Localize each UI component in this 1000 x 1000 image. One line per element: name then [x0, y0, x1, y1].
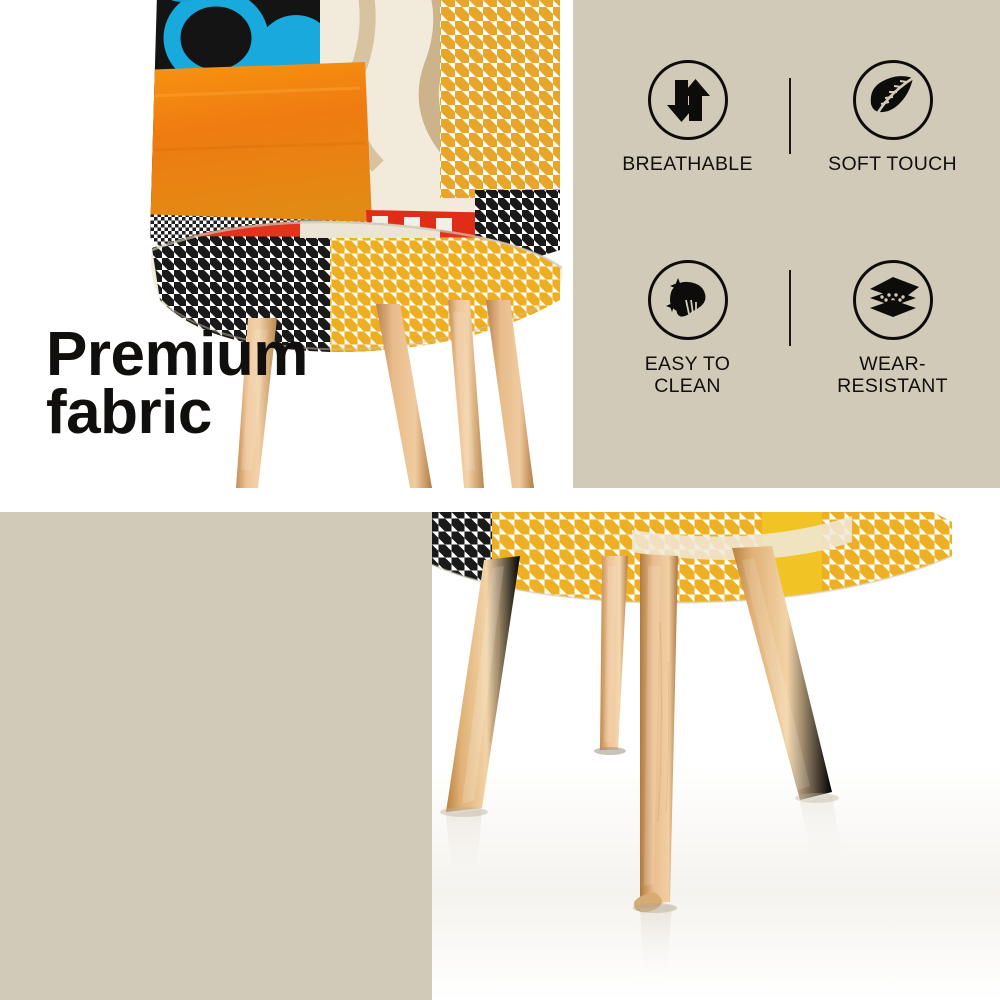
wood-feature-panel [0, 512, 432, 1000]
easy-clean-icon [648, 260, 728, 340]
feature-breathable[interactable]: BREATHABLE [585, 56, 790, 256]
feature-label: BREATHABLE [622, 153, 753, 175]
feature-label: EASY TO CLEAN [645, 353, 731, 397]
infographic-stage: BREATHABLE SOFT TOUCH [0, 0, 1000, 1000]
chair-photo-bottom [432, 512, 1000, 1000]
feature-divider [789, 78, 791, 154]
feature-divider [789, 270, 791, 346]
layers-icon [853, 260, 933, 340]
premium-fabric-heading: Premium fabric [46, 326, 308, 441]
feature-soft-touch[interactable]: SOFT TOUCH [790, 56, 995, 256]
feature-wear-resistant[interactable]: WEAR- RESISTANT [790, 256, 995, 456]
feature-label: SOFT TOUCH [828, 153, 957, 175]
feature-label: WEAR- RESISTANT [837, 353, 948, 397]
breathable-icon [648, 60, 728, 140]
feature-easy-to-clean[interactable]: EASY TO CLEAN [585, 256, 790, 456]
panel-solid-wood: 25-30 YEARS GROWTH CYCLE [0, 512, 1000, 1000]
chair-legs-illustration [432, 512, 1000, 1000]
feather-icon [853, 60, 933, 140]
panel-premium-fabric: BREATHABLE SOFT TOUCH [0, 0, 1000, 488]
